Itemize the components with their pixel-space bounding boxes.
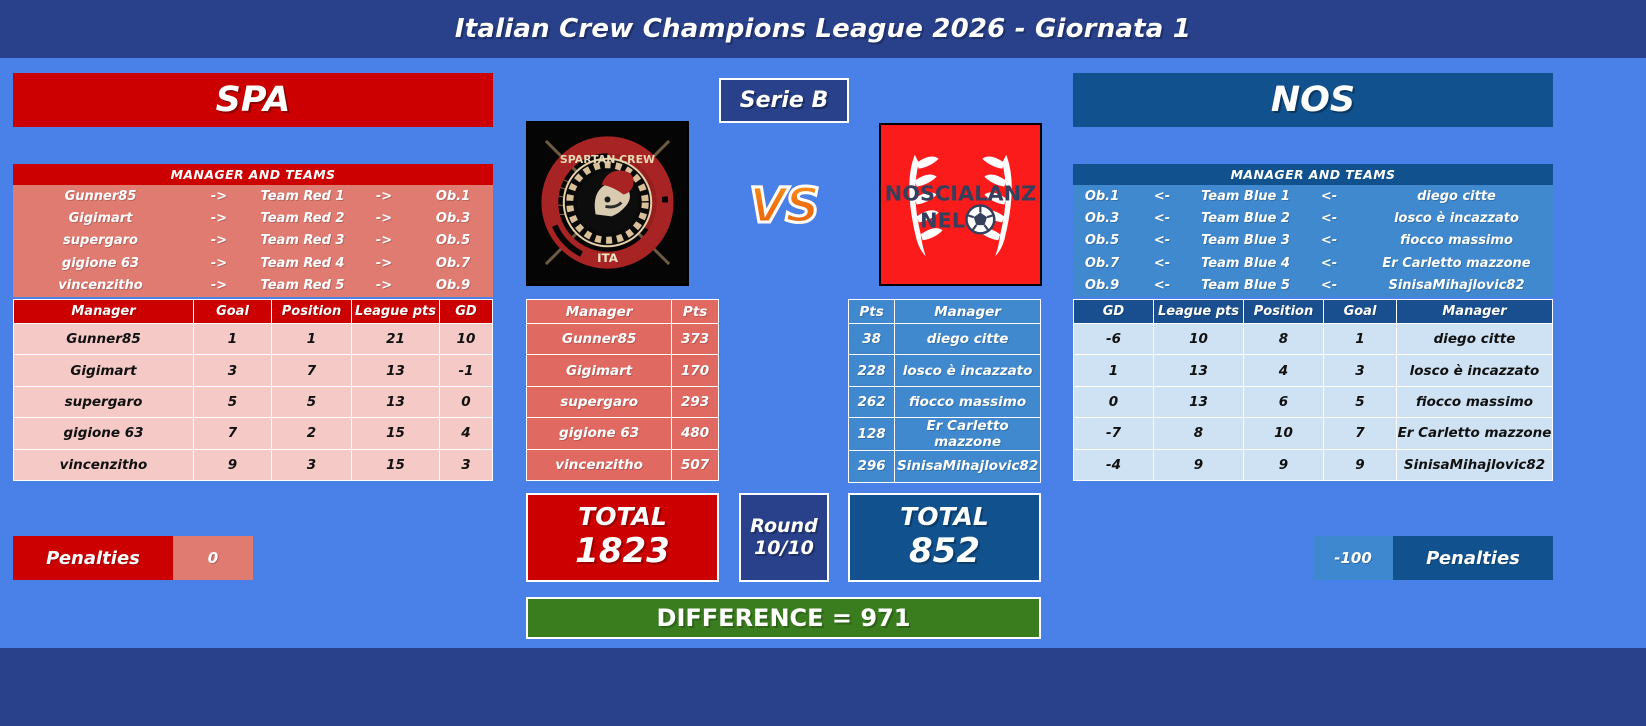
- cell-gd: 4: [440, 418, 493, 449]
- manager-team-row: gigione 63 -> Team Red 4 -> Ob.7: [13, 252, 493, 274]
- cell-pts: 293: [672, 386, 719, 417]
- vs-text: VS: [749, 178, 819, 234]
- arrow-left-icon: <-: [1131, 233, 1193, 248]
- cell-pts: 373: [672, 324, 719, 355]
- cell-pts: 228: [849, 355, 895, 386]
- table-header-row: GD League pts Position Goal Manager: [1074, 300, 1553, 324]
- table-header-row: Pts Manager: [849, 300, 1041, 324]
- table-header-row: Manager Goal Position League pts GD: [14, 300, 493, 324]
- column-header-gd: GD: [440, 300, 493, 324]
- slot-label: Ob.7: [413, 256, 493, 271]
- round-label: Round: [750, 516, 817, 537]
- table-row: vincenzitho 507: [527, 449, 719, 480]
- cell-position: 4: [1244, 355, 1324, 386]
- page-footer: [0, 648, 1646, 726]
- column-header-position: Position: [1244, 300, 1324, 324]
- cell-manager: Gigimart: [14, 355, 194, 386]
- scoreboard-page: Italian Crew Champions League 2026 - Gio…: [0, 0, 1646, 726]
- right-total-label: TOTAL: [900, 503, 989, 531]
- arrow-right-icon: ->: [188, 189, 250, 204]
- manager-team-row: Ob.5 <- Team Blue 3 <- fiocco massimo: [1073, 230, 1553, 252]
- team-name: Team Blue 3: [1193, 233, 1298, 248]
- cell-gd: -7: [1074, 418, 1154, 449]
- table-header-row: Manager Pts: [527, 300, 719, 324]
- cell-goal: 5: [194, 386, 272, 417]
- manager-team-row: Ob.7 <- Team Blue 4 <- Er Carletto mazzo…: [1073, 252, 1553, 274]
- column-header-position: Position: [272, 300, 352, 324]
- cell-position: 7: [272, 355, 352, 386]
- left-team-nameplate: SPA: [13, 73, 493, 127]
- table-row: 38 diego citte: [849, 324, 1041, 355]
- team-name: Team Red 1: [250, 189, 355, 204]
- cell-manager: losco è incazzato: [1397, 355, 1553, 386]
- team-name: Team Blue 4: [1193, 256, 1298, 271]
- cell-goal: 9: [194, 449, 272, 480]
- left-pts-table: Manager Pts Gunner85 373 Gigimart 170 su…: [526, 299, 719, 481]
- manager-team-row: Gunner85 -> Team Red 1 -> Ob.1: [13, 185, 493, 207]
- arrow-left-icon: <-: [1131, 211, 1193, 226]
- table-row: 128 Er Carletto mazzone: [849, 418, 1041, 451]
- right-penalties-value: -100: [1313, 536, 1393, 580]
- cell-goal: 1: [1324, 324, 1397, 355]
- arrow-right-icon: ->: [188, 256, 250, 271]
- manager-team-row: Ob.1 <- Team Blue 1 <- diego citte: [1073, 185, 1553, 207]
- left-manager-teams-block: MANAGER AND TEAMS Gunner85 -> Team Red 1…: [13, 164, 493, 297]
- right-penalties-row: -100 Penalties: [1313, 536, 1553, 580]
- manager-name: losco è incazzato: [1360, 211, 1553, 226]
- left-penalties-value: 0: [173, 536, 253, 580]
- cell-position: 9: [1244, 449, 1324, 480]
- right-total-box: TOTAL 852: [848, 493, 1041, 582]
- arrow-left-icon: <-: [1131, 189, 1193, 204]
- cell-league-pts: 13: [352, 355, 440, 386]
- svg-text:NOSCIALANZ: NOSCIALANZ: [885, 182, 1036, 206]
- svg-text:SPARTAN CREW: SPARTAN CREW: [560, 153, 655, 166]
- manager-name: vincenzitho: [13, 278, 188, 293]
- cell-manager: diego citte: [895, 324, 1041, 355]
- table-row: vincenzitho 9 3 15 3: [14, 449, 493, 480]
- cell-league-pts: 8: [1154, 418, 1244, 449]
- noscialanz-logo: NOSCIALANZ NEL: [879, 123, 1042, 286]
- team-name: Team Red 5: [250, 278, 355, 293]
- slot-label: Ob.9: [413, 278, 493, 293]
- cell-gd: -6: [1074, 324, 1154, 355]
- column-header-manager: Manager: [14, 300, 194, 324]
- team-name: Team Blue 1: [1193, 189, 1298, 204]
- cell-pts: 262: [849, 386, 895, 417]
- cell-manager: vincenzitho: [527, 449, 672, 480]
- cell-pts: 38: [849, 324, 895, 355]
- right-manager-teams-body: Ob.1 <- Team Blue 1 <- diego citte Ob.3 …: [1073, 185, 1553, 297]
- cell-league-pts: 15: [352, 449, 440, 480]
- difference-text: DIFFERENCE = 971: [657, 604, 911, 632]
- arrow-left-icon: <-: [1131, 278, 1193, 293]
- cell-league-pts: 13: [1154, 386, 1244, 417]
- cell-manager: supergaro: [527, 386, 672, 417]
- page-title: Italian Crew Champions League 2026 - Gio…: [455, 14, 1191, 44]
- right-team-nameplate: NOS: [1073, 73, 1553, 127]
- arrow-left-icon: <-: [1298, 256, 1360, 271]
- right-total-value: 852: [909, 531, 980, 572]
- manager-team-row: supergaro -> Team Red 3 -> Ob.5: [13, 230, 493, 252]
- column-header-goal: Goal: [194, 300, 272, 324]
- right-stats-table: GD League pts Position Goal Manager -6 1…: [1073, 299, 1553, 481]
- arrow-right-icon: ->: [355, 211, 413, 226]
- team-name: Team Red 2: [250, 211, 355, 226]
- cell-league-pts: 21: [352, 324, 440, 355]
- team-name: Team Blue 2: [1193, 211, 1298, 226]
- division-badge-label: Serie B: [740, 88, 829, 113]
- cell-pts: 296: [849, 451, 895, 482]
- slot-label: Ob.9: [1073, 278, 1131, 293]
- slot-label: Ob.5: [1073, 233, 1131, 248]
- slot-label: Ob.3: [1073, 211, 1131, 226]
- cell-position: 10: [1244, 418, 1324, 449]
- cell-league-pts: 13: [1154, 355, 1244, 386]
- cell-pts: 170: [672, 355, 719, 386]
- left-manager-teams-header: MANAGER AND TEAMS: [13, 164, 493, 185]
- manager-name: fiocco massimo: [1360, 233, 1553, 248]
- cell-position: 8: [1244, 324, 1324, 355]
- arrow-right-icon: ->: [355, 278, 413, 293]
- cell-goal: 1: [194, 324, 272, 355]
- cell-league-pts: 10: [1154, 324, 1244, 355]
- cell-manager: Er Carletto mazzone: [895, 418, 1041, 451]
- cell-manager: SinisaMihajlovic82: [1397, 449, 1553, 480]
- cell-manager: vincenzitho: [14, 449, 194, 480]
- arrow-left-icon: <-: [1298, 189, 1360, 204]
- cell-manager: SinisaMihajlovic82: [895, 451, 1041, 482]
- cell-pts: 507: [672, 449, 719, 480]
- right-pts-table: Pts Manager 38 diego citte 228 losco è i…: [848, 299, 1041, 483]
- cell-position: 2: [272, 418, 352, 449]
- slot-label: Ob.3: [413, 211, 493, 226]
- table-row: Gunner85 373: [527, 324, 719, 355]
- left-manager-teams-body: Gunner85 -> Team Red 1 -> Ob.1 Gigimart …: [13, 185, 493, 297]
- manager-team-row: vincenzitho -> Team Red 5 -> Ob.9: [13, 275, 493, 297]
- team-name: Team Red 4: [250, 256, 355, 271]
- left-stats-table: Manager Goal Position League pts GD Gunn…: [13, 299, 493, 481]
- arrow-right-icon: ->: [188, 233, 250, 248]
- svg-text:ITA: ITA: [597, 251, 619, 265]
- arrow-left-icon: <-: [1298, 278, 1360, 293]
- table-row: 262 fiocco massimo: [849, 386, 1041, 417]
- manager-name: Gunner85: [13, 189, 188, 204]
- arrow-left-icon: <-: [1298, 233, 1360, 248]
- manager-team-row: Ob.3 <- Team Blue 2 <- losco è incazzato: [1073, 207, 1553, 229]
- spartan-crew-logo: SPARTAN CREW ITA: [526, 121, 689, 286]
- cell-goal: 3: [194, 355, 272, 386]
- cell-gd: 0: [440, 386, 493, 417]
- cell-gd: -1: [440, 355, 493, 386]
- table-row: 1 13 4 3 losco è incazzato: [1074, 355, 1553, 386]
- column-header-pts: Pts: [672, 300, 719, 324]
- column-header-league-pts: League pts: [1154, 300, 1244, 324]
- table-row: -7 8 10 7 Er Carletto mazzone: [1074, 418, 1553, 449]
- cell-manager: Gunner85: [14, 324, 194, 355]
- manager-name: supergaro: [13, 233, 188, 248]
- cell-goal: 5: [1324, 386, 1397, 417]
- spartan-crew-logo-art: SPARTAN CREW ITA: [528, 123, 687, 282]
- difference-banner: DIFFERENCE = 971: [526, 597, 1041, 639]
- column-header-manager: Manager: [895, 300, 1041, 324]
- cell-manager: fiocco massimo: [1397, 386, 1553, 417]
- cell-manager: Gigimart: [527, 355, 672, 386]
- arrow-left-icon: <-: [1131, 256, 1193, 271]
- cell-league-pts: 15: [352, 418, 440, 449]
- manager-name: gigione 63: [13, 256, 188, 271]
- manager-name: diego citte: [1360, 189, 1553, 204]
- cell-manager: Er Carletto mazzone: [1397, 418, 1553, 449]
- left-total-box: TOTAL 1823: [526, 493, 719, 582]
- column-header-goal: Goal: [1324, 300, 1397, 324]
- cell-pts: 480: [672, 418, 719, 449]
- svg-text:NEL: NEL: [920, 208, 965, 232]
- table-row: -4 9 9 9 SinisaMihajlovic82: [1074, 449, 1553, 480]
- division-badge: Serie B: [719, 78, 849, 123]
- table-row: gigione 63 7 2 15 4: [14, 418, 493, 449]
- cell-manager: fiocco massimo: [895, 386, 1041, 417]
- team-name: Team Red 3: [250, 233, 355, 248]
- table-row: 0 13 6 5 fiocco massimo: [1074, 386, 1553, 417]
- manager-name: SinisaMihajlovic82: [1360, 278, 1553, 293]
- table-row: 296 SinisaMihajlovic82: [849, 451, 1041, 482]
- manager-team-row: Ob.9 <- Team Blue 5 <- SinisaMihajlovic8…: [1073, 275, 1553, 297]
- arrow-right-icon: ->: [355, 256, 413, 271]
- cell-goal: 7: [1324, 418, 1397, 449]
- table-row: 228 losco è incazzato: [849, 355, 1041, 386]
- left-penalties-label: Penalties: [13, 536, 173, 580]
- team-name: Team Blue 5: [1193, 278, 1298, 293]
- arrow-right-icon: ->: [355, 233, 413, 248]
- table-row: supergaro 293: [527, 386, 719, 417]
- arrow-left-icon: <-: [1298, 211, 1360, 226]
- cell-manager: Gunner85: [527, 324, 672, 355]
- manager-name: Er Carletto mazzone: [1360, 256, 1553, 271]
- cell-position: 1: [272, 324, 352, 355]
- right-penalties-label: Penalties: [1393, 536, 1553, 580]
- cell-manager: supergaro: [14, 386, 194, 417]
- cell-manager: gigione 63: [14, 418, 194, 449]
- table-row: Gunner85 1 1 21 10: [14, 324, 493, 355]
- page-header: Italian Crew Champions League 2026 - Gio…: [0, 0, 1646, 58]
- cell-position: 5: [272, 386, 352, 417]
- cell-position: 6: [1244, 386, 1324, 417]
- cell-goal: 3: [1324, 355, 1397, 386]
- cell-league-pts: 13: [352, 386, 440, 417]
- cell-gd: 1: [1074, 355, 1154, 386]
- cell-gd: 0: [1074, 386, 1154, 417]
- table-row: gigione 63 480: [527, 418, 719, 449]
- right-manager-teams-block: MANAGER AND TEAMS Ob.1 <- Team Blue 1 <-…: [1073, 164, 1553, 297]
- slot-label: Ob.7: [1073, 256, 1131, 271]
- cell-gd: 10: [440, 324, 493, 355]
- table-row: Gigimart 170: [527, 355, 719, 386]
- arrow-right-icon: ->: [188, 211, 250, 226]
- slot-label: Ob.1: [1073, 189, 1131, 204]
- cell-position: 3: [272, 449, 352, 480]
- left-penalties-row: Penalties 0: [13, 536, 253, 580]
- column-header-league-pts: League pts: [352, 300, 440, 324]
- noscialanz-logo-art: NOSCIALANZ NEL: [881, 125, 1040, 284]
- column-header-manager: Manager: [1397, 300, 1553, 324]
- slot-label: Ob.5: [413, 233, 493, 248]
- round-box: Round 10/10: [739, 493, 829, 582]
- cell-manager: losco è incazzato: [895, 355, 1041, 386]
- cell-pts: 128: [849, 418, 895, 451]
- left-total-value: 1823: [575, 531, 670, 572]
- slot-label: Ob.1: [413, 189, 493, 204]
- right-manager-teams-header: MANAGER AND TEAMS: [1073, 164, 1553, 185]
- cell-gd: -4: [1074, 449, 1154, 480]
- table-row: -6 10 8 1 diego citte: [1074, 324, 1553, 355]
- column-header-gd: GD: [1074, 300, 1154, 324]
- cell-goal: 9: [1324, 449, 1397, 480]
- column-header-manager: Manager: [527, 300, 672, 324]
- cell-gd: 3: [440, 449, 493, 480]
- cell-manager: diego citte: [1397, 324, 1553, 355]
- arrow-right-icon: ->: [355, 189, 413, 204]
- left-team-name: SPA: [216, 80, 291, 120]
- cell-manager: gigione 63: [527, 418, 672, 449]
- table-row: Gigimart 3 7 13 -1: [14, 355, 493, 386]
- arrow-right-icon: ->: [188, 278, 250, 293]
- right-team-name: NOS: [1271, 80, 1355, 120]
- left-total-label: TOTAL: [578, 503, 667, 531]
- round-value: 10/10: [754, 537, 814, 560]
- manager-team-row: Gigimart -> Team Red 2 -> Ob.3: [13, 207, 493, 229]
- table-row: supergaro 5 5 13 0: [14, 386, 493, 417]
- vs-label: VS: [719, 178, 849, 234]
- manager-name: Gigimart: [13, 211, 188, 226]
- column-header-pts: Pts: [849, 300, 895, 324]
- cell-goal: 7: [194, 418, 272, 449]
- cell-league-pts: 9: [1154, 449, 1244, 480]
